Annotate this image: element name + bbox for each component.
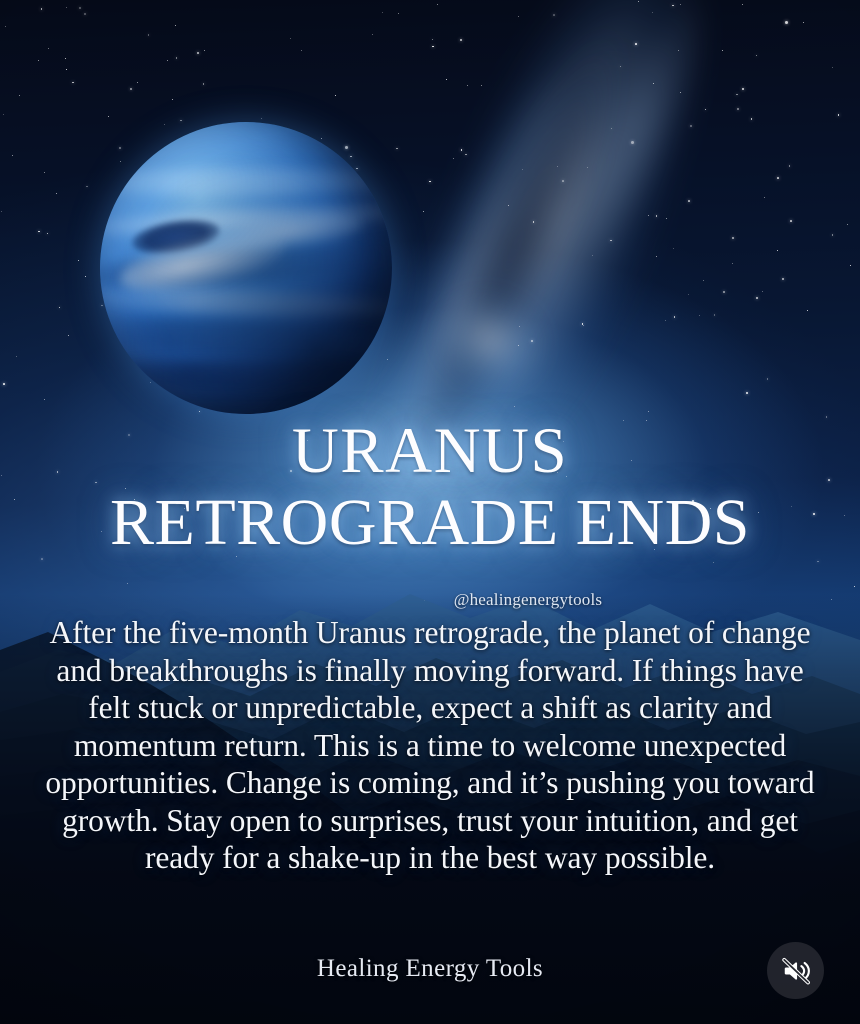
speaker-muted-icon <box>781 956 811 986</box>
mute-button[interactable] <box>767 942 824 999</box>
title-line-1: URANUS <box>0 416 860 487</box>
watermark-handle: @healingenergytools <box>0 590 860 610</box>
post-text-content: URANUS RETROGRADE ENDS @healingenergytoo… <box>0 0 860 1024</box>
page-title: URANUS RETROGRADE ENDS <box>0 416 860 558</box>
title-line-2: RETROGRADE ENDS <box>0 487 860 558</box>
signature-text: Healing Energy Tools <box>0 955 860 983</box>
social-post-image: URANUS RETROGRADE ENDS @healingenergytoo… <box>0 0 860 1024</box>
body-text: After the five-month Uranus retrograde, … <box>42 614 818 877</box>
